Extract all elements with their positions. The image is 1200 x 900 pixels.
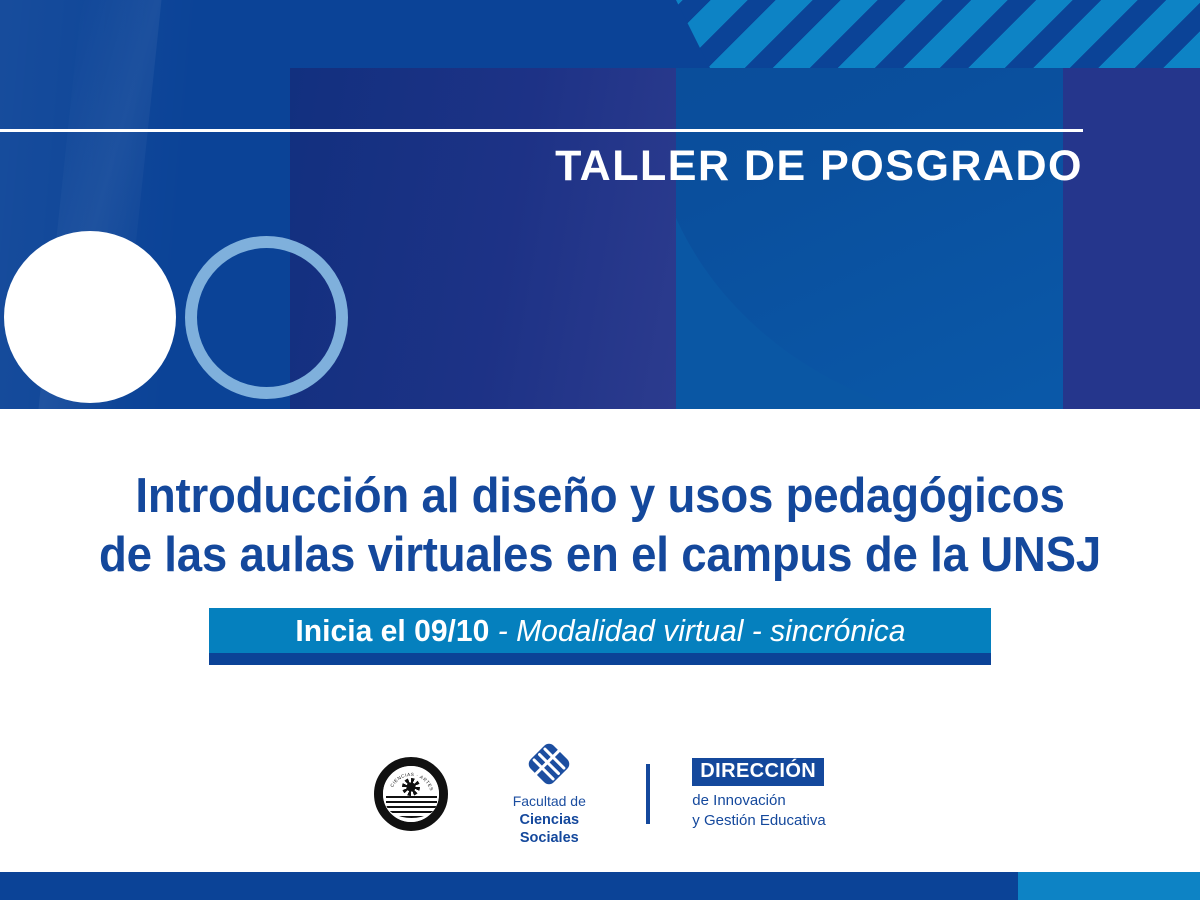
hero-curve-shape <box>676 68 1063 409</box>
schedule-band-main: Inicia el 09/10 - Modalidad virtual - si… <box>209 608 991 653</box>
footer-bar <box>0 872 1200 900</box>
schedule-modality: - Modalidad virtual - sincrónica <box>489 613 905 648</box>
direction-logo: DIRECCIÓN de Innovación y Gestión Educat… <box>692 758 825 829</box>
content-area: Introducción al diseño y usos pedagógico… <box>0 409 1200 872</box>
schedule-start-date: Inicia el 09/10 <box>295 613 489 648</box>
hero-divider-rule <box>0 129 1083 132</box>
schedule-band: Inicia el 09/10 - Modalidad virtual - si… <box>209 608 991 665</box>
logo-vertical-divider <box>646 764 650 824</box>
unsj-seal-icon: CIENCIAS · ARTES HUMANIDADES <box>374 757 448 831</box>
direction-box-label: DIRECCIÓN <box>692 758 824 786</box>
faculty-logo: Facultad de Ciencias Sociales <box>490 741 608 847</box>
decorative-circle-outline <box>185 236 348 399</box>
footer-bar-right <box>1018 872 1200 900</box>
title-line-1: Introducción al diseño y usos pedagógico… <box>42 467 1158 526</box>
diagonal-stripes-pattern <box>676 0 1200 68</box>
hero-panel-right <box>1063 68 1200 409</box>
seal-inner-disc: CIENCIAS · ARTES HUMANIDADES <box>383 766 439 822</box>
hero-panel-middle <box>290 68 676 409</box>
decorative-circle-filled <box>4 231 176 403</box>
schedule-band-text: Inicia el 09/10 - Modalidad virtual - si… <box>295 615 905 646</box>
poster-canvas: TALLER DE POSGRADO Introducción al diseñ… <box>0 0 1200 900</box>
logo-row: CIENCIAS · ARTES HUMANIDADES <box>0 739 1200 849</box>
hero-panel-accent <box>676 68 1063 409</box>
kicker-label: TALLER DE POSGRADO <box>0 144 1083 189</box>
page-title: Introducción al diseño y usos pedagógico… <box>42 467 1158 585</box>
footer-bar-left <box>0 872 1018 900</box>
title-line-2: de las aulas virtuales en el campus de l… <box>42 526 1158 585</box>
faculty-diamond-mark-icon <box>526 741 572 787</box>
faculty-line-1: Facultad de <box>490 793 608 811</box>
direction-line-1: de Innovación <box>692 791 825 810</box>
hero-banner: TALLER DE POSGRADO <box>0 0 1200 409</box>
faculty-line-2: Ciencias Sociales <box>490 811 608 847</box>
seal-sun-icon <box>402 778 420 796</box>
direction-line-2: y Gestión Educativa <box>692 811 825 830</box>
